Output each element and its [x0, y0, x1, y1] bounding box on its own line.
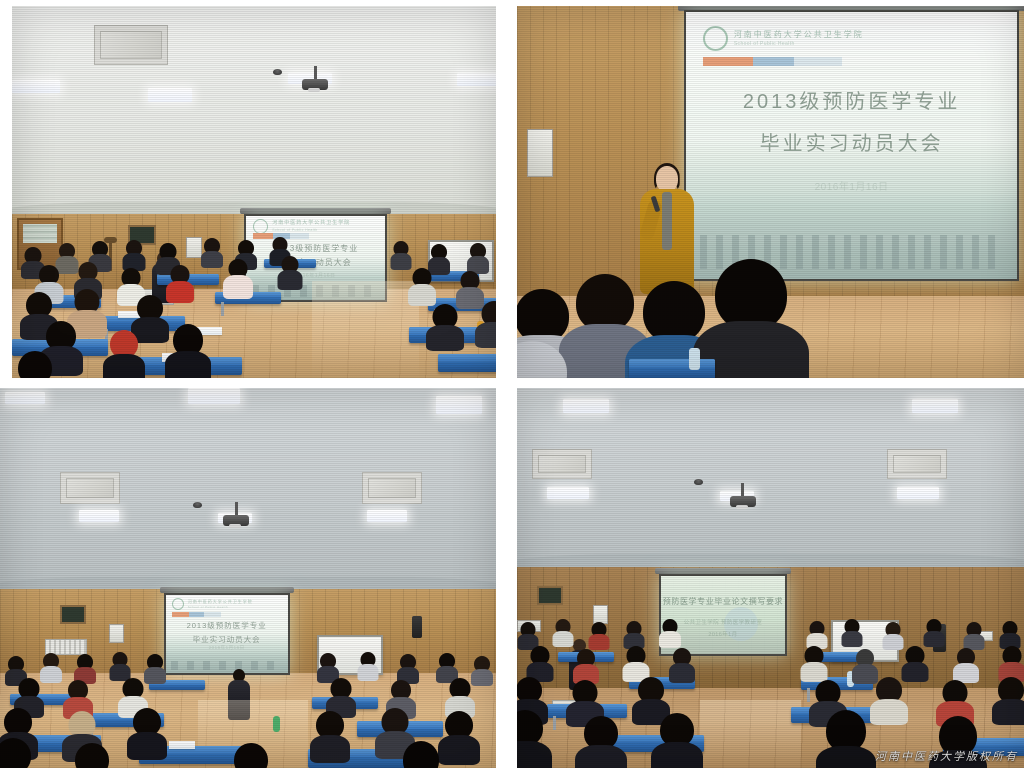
wall-notice [527, 129, 553, 177]
desk [629, 359, 715, 378]
audience-member [129, 708, 165, 752]
audience-member [428, 304, 462, 346]
slide-date: 2016年1月16日 [686, 178, 1017, 193]
audience-member [999, 646, 1024, 678]
ceiling-projector-icon [223, 502, 249, 530]
audience-member [527, 646, 553, 678]
audience-member [167, 265, 193, 299]
ceiling-light-icon [188, 388, 240, 404]
audience-member [994, 677, 1024, 719]
paper-sheet [169, 741, 195, 749]
audience-member [517, 710, 548, 764]
audience [517, 616, 1024, 768]
audience-member [963, 622, 985, 650]
slide-title-line2: 毕业实习动员大会 [686, 123, 1017, 165]
water-bottle [273, 716, 280, 732]
audience-member [123, 240, 145, 270]
slide-org-name-en: School of Public Health [188, 605, 253, 610]
audience-member [669, 648, 695, 680]
photo-collage: 河南中医药大学公共卫生学院 School of Public Health 20… [0, 0, 1024, 768]
ac-vent-icon [532, 449, 592, 479]
audience-member [573, 649, 599, 681]
audience-member [923, 619, 945, 647]
water-bottle [689, 348, 700, 370]
slide-accent-bar [703, 57, 842, 66]
audience-member [228, 743, 274, 768]
audience-member [446, 678, 474, 714]
audience-member [841, 619, 863, 647]
audience-member [806, 621, 828, 649]
audience-member [104, 330, 144, 378]
audience-member [882, 622, 904, 650]
audience-member [312, 711, 348, 755]
slide-title: 2013级预防医学专业 毕业实习动员大会 [686, 81, 1017, 165]
audience-member [623, 646, 649, 678]
photo-top-left: 河南中医药大学公共卫生学院 School of Public Health 20… [12, 6, 496, 378]
audience-member [471, 656, 493, 684]
audience-member [441, 711, 477, 755]
audience-member [144, 654, 166, 682]
university-logo-icon [703, 26, 728, 51]
audience-member [390, 241, 412, 271]
audience [0, 631, 496, 768]
university-logo-icon [172, 598, 184, 610]
projection-screen: 河南中医药大学公共卫生学院 School of Public Health 20… [684, 10, 1019, 282]
ac-vent-icon [362, 472, 422, 504]
audience-member [327, 678, 355, 714]
ceiling-light-icon [5, 392, 45, 404]
audience-member [167, 324, 209, 374]
audience-member [999, 621, 1021, 649]
ceiling-projector-icon [730, 483, 756, 511]
ceiling-light-icon [457, 73, 496, 86]
desk [438, 354, 496, 372]
audience-member [659, 619, 681, 647]
photo-bottom-left: 河南中医药大学公共卫生学院 School of Public Health 20… [0, 388, 496, 768]
audience-member [0, 738, 36, 768]
audience-member [74, 654, 96, 682]
ceiling-projector-icon [302, 66, 328, 94]
audience-member [467, 243, 489, 273]
ac-vent-icon [60, 472, 120, 504]
presenter-scarf [662, 192, 672, 250]
audience-member [578, 716, 624, 768]
audience-member [552, 619, 574, 647]
audience-member [357, 652, 379, 680]
audience-member [623, 621, 645, 649]
ceiling-light-icon [148, 88, 192, 102]
audience-member [477, 301, 496, 343]
slide-title-line1: 2013级预防医学专业 [686, 81, 1017, 123]
ceiling-light-icon [436, 396, 482, 414]
audience [12, 229, 496, 378]
audience-member [40, 653, 62, 681]
audience-member [953, 648, 979, 680]
ceiling-light-icon [912, 399, 958, 413]
audience-member [201, 238, 223, 268]
audience-member [225, 259, 251, 293]
audience-member [801, 646, 827, 678]
audience-member [588, 622, 610, 650]
audience-member [278, 256, 302, 288]
wall-plaque [537, 586, 563, 605]
audience-member [397, 654, 419, 682]
audience-member [705, 259, 797, 378]
slide-org-name: 河南中医药大学公共卫生学院 School of Public Health [734, 29, 864, 49]
ceiling-light-icon [563, 399, 609, 413]
audience-member [902, 646, 928, 678]
slide-org-name-en: School of Public Health [734, 41, 864, 49]
wall-plaque [60, 605, 86, 624]
audience-member [654, 713, 700, 767]
ac-vent-icon [94, 25, 168, 65]
photo-top-right: 河南中医药大学公共卫生学院 School of Public Health 20… [517, 6, 1024, 378]
audience-member [872, 677, 906, 719]
ac-vent-icon [887, 449, 947, 479]
ceiling-light-icon [12, 80, 60, 93]
slide-accent-bar [172, 612, 221, 617]
audience-member [69, 743, 115, 768]
audience-member [821, 710, 871, 768]
audience-member [12, 351, 58, 378]
ceiling-light-icon [547, 487, 589, 499]
audience-member [409, 268, 435, 302]
ceiling-light-icon [79, 510, 119, 522]
watermark: 河南中医药大学版权所有 [875, 748, 1018, 764]
slide-org-name: 河南中医药大学公共卫生学院 School of Public Health [188, 599, 253, 610]
slide-alt-title: 预防医学专业毕业论文撰写要求 [661, 596, 785, 607]
ceiling-light-icon [897, 487, 939, 499]
audience-member [397, 741, 445, 768]
audience-member [109, 652, 131, 680]
audience-member [517, 341, 577, 378]
photo-bottom-right: 预防医学专业毕业论文撰写要求 公共卫生学院 预防医学教研室 2016年1月 [517, 388, 1024, 768]
ceiling-light-icon [367, 510, 407, 522]
